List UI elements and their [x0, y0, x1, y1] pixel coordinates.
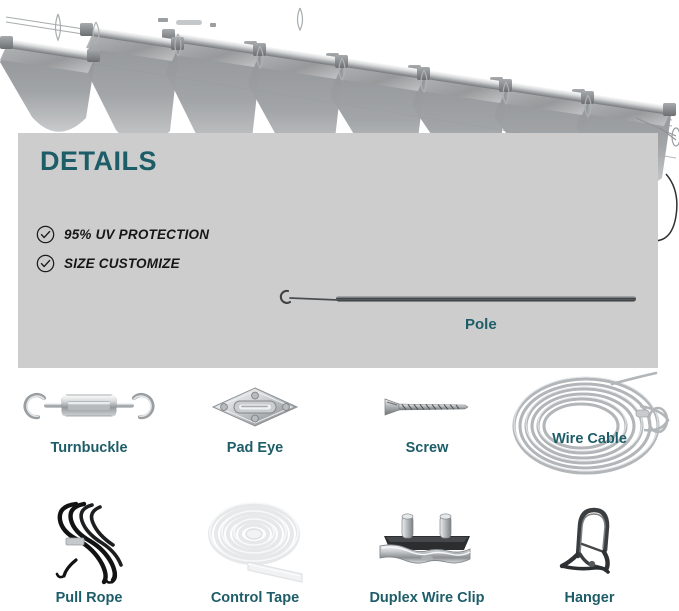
pole-label: Pole	[465, 316, 497, 333]
feature-item: 95% UV PROTECTION	[36, 225, 209, 244]
feature-item: SIZE CUSTOMIZE	[36, 254, 209, 273]
control-tape-icon	[180, 494, 330, 586]
check-circle-icon	[36, 225, 55, 244]
feature-label: 95% UV PROTECTION	[64, 227, 209, 242]
accessory-label: Wire Cable	[552, 431, 627, 447]
accessory-art	[342, 494, 512, 591]
feature-list: 95% UV PROTECTION SIZE CUSTOMIZE	[36, 225, 209, 273]
accessory-art	[170, 378, 340, 441]
pull-rope-icon	[14, 494, 164, 586]
accessory-art: Wire Cable	[500, 378, 679, 490]
accessory-art	[4, 378, 174, 441]
wire-cable-coil-icon	[500, 370, 679, 482]
feature-label: SIZE CUSTOMIZE	[64, 256, 180, 271]
accessory-item-pad-eye: Pad Eye	[170, 378, 340, 456]
accessory-label: Pad Eye	[170, 441, 340, 456]
duplex-wire-clip-icon	[352, 494, 502, 586]
accessory-art	[4, 494, 174, 591]
page-title: DETAILS	[40, 146, 157, 177]
accessory-art	[170, 494, 340, 591]
accessory-label: Hanger	[500, 591, 679, 606]
accessory-item-turnbuckle: Turnbuckle	[4, 378, 174, 456]
turnbuckle-icon	[14, 378, 164, 436]
accessory-art	[500, 494, 679, 591]
accessory-label: Duplex Wire Clip	[342, 591, 512, 606]
accessory-art	[342, 378, 512, 441]
accessory-item-wire-cable: Wire Cable	[500, 378, 679, 490]
accessory-grid: Turnbuckle	[0, 372, 679, 611]
pole-figure: Pole	[276, 283, 646, 343]
accessory-item-control-tape: Control Tape	[170, 494, 340, 606]
pole-rod-icon	[276, 283, 646, 315]
pad-eye-icon	[180, 378, 330, 436]
accessory-item-duplex-wire-clip: Duplex Wire Clip	[342, 494, 512, 606]
accessory-label: Pull Rope	[4, 591, 174, 606]
hanger-clip-icon	[500, 494, 679, 586]
accessory-label: Control Tape	[170, 591, 340, 606]
details-panel: DETAILS 95% UV PROTECTION SIZE CUSTOMIZE	[18, 133, 658, 368]
accessory-label: Screw	[342, 441, 512, 456]
accessory-item-pull-rope: Pull Rope	[4, 494, 174, 606]
screw-icon	[352, 378, 502, 436]
accessory-item-hanger: Hanger	[500, 494, 679, 606]
check-circle-icon	[36, 254, 55, 273]
accessory-label: Turnbuckle	[4, 441, 174, 456]
product-infographic: DETAILS 95% UV PROTECTION SIZE CUSTOMIZE	[0, 0, 679, 611]
accessory-item-screw: Screw	[342, 378, 512, 456]
